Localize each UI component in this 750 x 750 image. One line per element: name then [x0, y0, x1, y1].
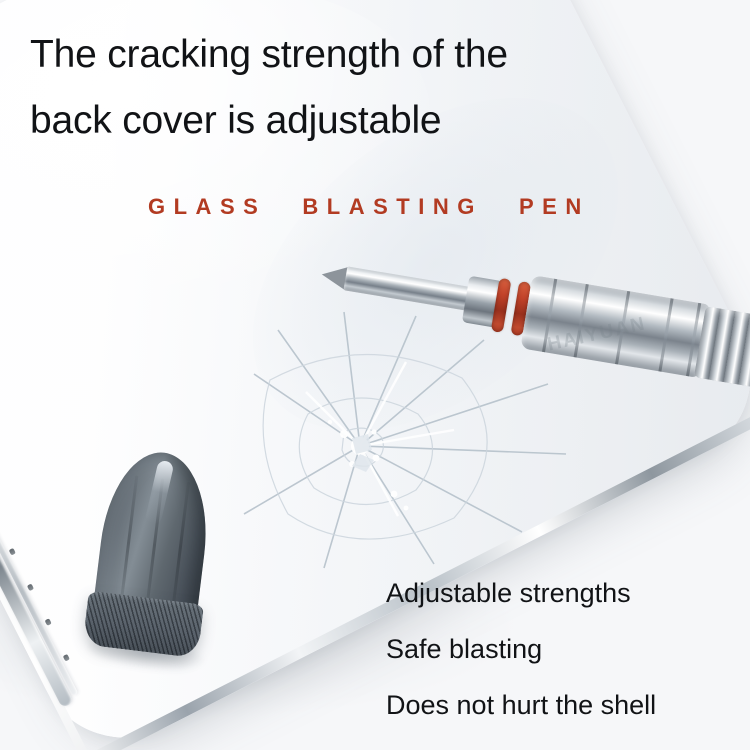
feature-list: Adjustable strengths Safe blasting Does … [386, 565, 750, 733]
cap-highlight [144, 459, 174, 525]
feature-item: Adjustable strengths [386, 565, 750, 621]
pen-shaft [343, 266, 473, 311]
headline-line-1: The cracking strength of the [30, 33, 508, 76]
feature-item: Does not hurt the shell [386, 677, 750, 733]
feature-item: Safe blasting [386, 621, 750, 677]
product-title: GLASS BLASTING PEN [148, 194, 748, 220]
product-marketing-image: HAIYUAN The cracking strength of the bac… [0, 0, 750, 750]
product-title-word-3: PEN [519, 194, 590, 219]
product-title-word-1: GLASS [148, 194, 266, 219]
headline-line-2: back cover is adjustable [30, 88, 670, 154]
protective-cap [80, 445, 224, 660]
headline: The cracking strength of the back cover … [30, 22, 670, 154]
product-title-word-2: BLASTING [302, 194, 482, 219]
